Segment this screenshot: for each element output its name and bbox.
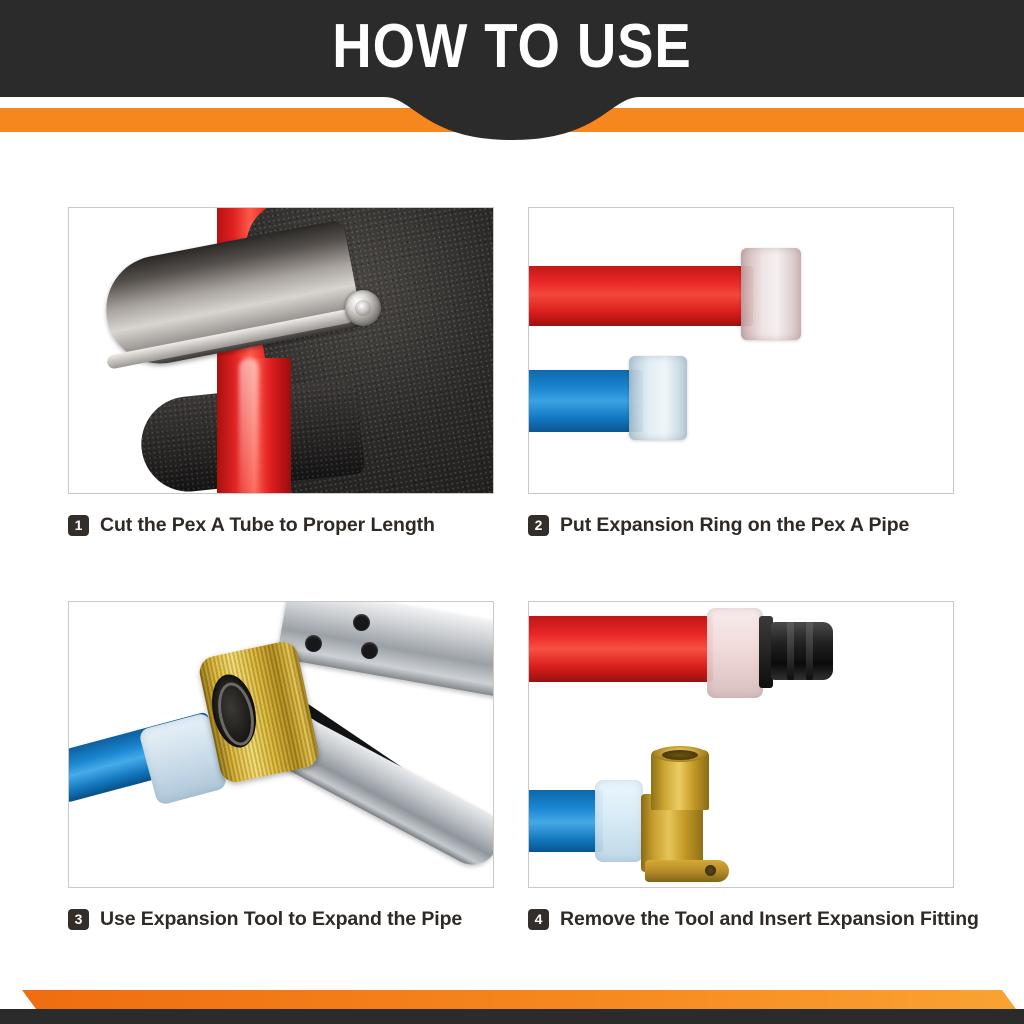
header-band: HOW TO USE — [0, 0, 1024, 148]
step-card-2: 2 Put Expansion Ring on the Pex A Pipe — [528, 207, 956, 539]
tube-highlight — [239, 358, 259, 494]
fitting-barb — [787, 622, 794, 680]
step-caption-3: 3 Use Expansion Tool to Expand the Pipe — [68, 905, 496, 933]
step-image-4 — [528, 601, 954, 888]
tool-pin-hole — [361, 642, 378, 659]
footer-band — [0, 954, 1024, 1024]
step-number-badge-3: 3 — [68, 909, 89, 930]
steps-row-2: 3 Use Expansion Tool to Expand the Pipe — [68, 601, 956, 933]
step-caption-4: 4 Remove the Tool and Insert Expansion F… — [528, 905, 956, 933]
step-number-badge-4: 4 — [528, 909, 549, 930]
step-image-3 — [68, 601, 494, 888]
step-card-3: 3 Use Expansion Tool to Expand the Pipe — [68, 601, 496, 933]
expansion-ring-red — [707, 608, 763, 698]
step-image-1 — [68, 207, 494, 494]
brass-elbow-mounting-ear — [645, 860, 729, 882]
step-image-2 — [528, 207, 954, 494]
blue-pex-pipe — [528, 790, 603, 852]
footer-accent-bar — [22, 990, 1016, 1009]
infographic-page: HOW TO USE — [0, 0, 1024, 1024]
tool-pin-hole — [305, 635, 322, 652]
step-caption-text-1: Cut the Pex A Tube to Proper Length — [100, 514, 435, 537]
step-card-4: 4 Remove the Tool and Insert Expansion F… — [528, 601, 956, 933]
steps-row-1: 1 Cut the Pex A Tube to Proper Length 2 … — [68, 207, 956, 539]
expansion-ring-blue — [629, 356, 687, 440]
mounting-ear-screw-hole — [705, 865, 716, 876]
red-pex-pipe — [528, 266, 753, 326]
cutter-rivet-core — [355, 300, 371, 316]
step-number-badge-2: 2 — [528, 515, 549, 536]
footer-shape — [0, 954, 1024, 1024]
page-title: HOW TO USE — [61, 9, 962, 85]
tool-pin-hole — [353, 614, 370, 631]
step-card-1: 1 Cut the Pex A Tube to Proper Length — [68, 207, 496, 539]
expansion-ring-red — [741, 248, 801, 340]
footer-dark-band — [0, 1009, 1024, 1024]
black-poly-expansion-fitting — [771, 622, 833, 680]
step-number-badge-1: 1 — [68, 515, 89, 536]
expansion-ring-blue — [595, 780, 643, 862]
step-caption-text-3: Use Expansion Tool to Expand the Pipe — [100, 908, 462, 931]
step-caption-1: 1 Cut the Pex A Tube to Proper Length — [68, 511, 496, 539]
blue-pex-pipe — [528, 370, 643, 432]
steps-grid: 1 Cut the Pex A Tube to Proper Length 2 … — [68, 207, 956, 933]
fitting-barb — [806, 622, 813, 680]
step-caption-2: 2 Put Expansion Ring on the Pex A Pipe — [528, 511, 956, 539]
red-pex-pipe — [528, 616, 713, 682]
step-caption-text-4: Remove the Tool and Insert Expansion Fit… — [560, 908, 979, 931]
step-caption-text-2: Put Expansion Ring on the Pex A Pipe — [560, 514, 909, 537]
brass-elbow-bore — [662, 750, 698, 760]
